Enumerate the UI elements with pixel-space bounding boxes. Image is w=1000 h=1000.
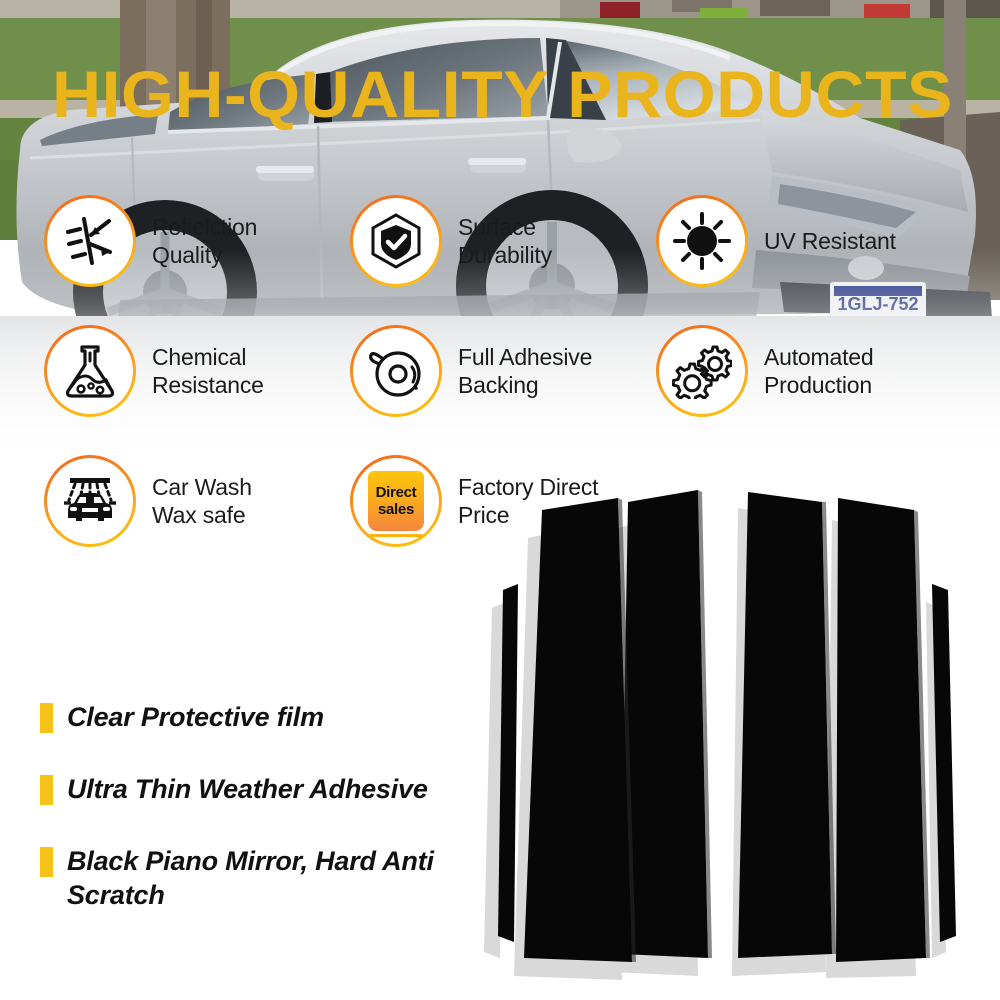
bullet-text: Black Piano Mirror, Hard Anti Scratch [67, 844, 500, 912]
tape-roll-icon [350, 325, 442, 417]
feature-car-wash-wax-safe: Car Wash Wax safe [44, 436, 350, 566]
feature-label-line1: Chemical [152, 343, 264, 371]
direct-sales-icon: Direct sales [350, 455, 442, 547]
car-wash-icon [44, 455, 136, 547]
pillar-piece-5 [836, 498, 926, 962]
direct-sales-badge: Direct sales [368, 471, 424, 531]
feature-surface-durability: Surface Durability [350, 176, 656, 306]
feature-label-line2: Backing [458, 371, 592, 399]
feature-automated-production: Automated Production [656, 306, 962, 436]
feature-label-line2: Wax safe [152, 501, 252, 529]
feature-label: UV Resistant [764, 227, 896, 255]
feature-label-line1: Refielction [152, 213, 257, 241]
page-title: HIGH-QUALITY PRODUCTS [52, 58, 989, 130]
feature-label: Car Wash Wax safe [152, 473, 252, 529]
feature-label: Full Adhesive Backing [458, 343, 592, 399]
direct-sales-badge-line1: Direct [376, 484, 417, 501]
feature-row-2: Chemical Resistance Full Adhesive [44, 306, 964, 436]
bullet-text: Clear Protective film [67, 700, 324, 734]
pillar-piece-4 [738, 492, 832, 958]
feature-label-line2: Resistance [152, 371, 264, 399]
feature-label-line1: Full Adhesive [458, 343, 592, 371]
reflection-icon [44, 195, 136, 287]
feature-label: Chemical Resistance [152, 343, 264, 399]
list-item: Black Piano Mirror, Hard Anti Scratch [40, 844, 500, 912]
list-item: Clear Protective film [40, 700, 500, 734]
gears-icon [656, 325, 748, 417]
pillar-piece-2 [524, 498, 632, 962]
feature-row-1: Refielction Quality Surface Durability [44, 176, 964, 306]
feature-uv-resistant: UV Resistant [656, 176, 962, 306]
feature-label: Surface Durability [458, 213, 552, 269]
pillar-pieces [498, 490, 956, 962]
feature-label-line2: Quality [152, 241, 257, 269]
feature-label-line1: Surface [458, 213, 552, 241]
feature-label: Refielction Quality [152, 213, 257, 269]
feature-reflection-quality: Refielction Quality [44, 176, 350, 306]
pillar-posts-art [470, 480, 1000, 990]
feature-label-line1: Car Wash [152, 473, 252, 501]
sun-icon [656, 195, 748, 287]
flask-icon [44, 325, 136, 417]
bullet-marker-icon [40, 847, 53, 877]
feature-bullet-list: Clear Protective film Ultra Thin Weather… [40, 700, 500, 950]
feature-label-line2: Production [764, 371, 873, 399]
feature-full-adhesive-backing: Full Adhesive Backing [350, 306, 656, 436]
feature-label-line1: UV Resistant [764, 227, 896, 255]
feature-label: Automated Production [764, 343, 873, 399]
direct-sales-badge-line2: sales [378, 501, 414, 518]
bullet-marker-icon [40, 703, 53, 733]
feature-chemical-resistance: Chemical Resistance [44, 306, 350, 436]
shield-hexagon-icon [350, 195, 442, 287]
feature-label-line1: Automated [764, 343, 873, 371]
list-item: Ultra Thin Weather Adhesive [40, 772, 500, 806]
product-pillar-posts [470, 480, 1000, 990]
bullet-marker-icon [40, 775, 53, 805]
product-marketing-image: 1GLJ-752 [0, 0, 1000, 1000]
feature-label-line2: Durability [458, 241, 552, 269]
bullet-text: Ultra Thin Weather Adhesive [67, 772, 428, 806]
